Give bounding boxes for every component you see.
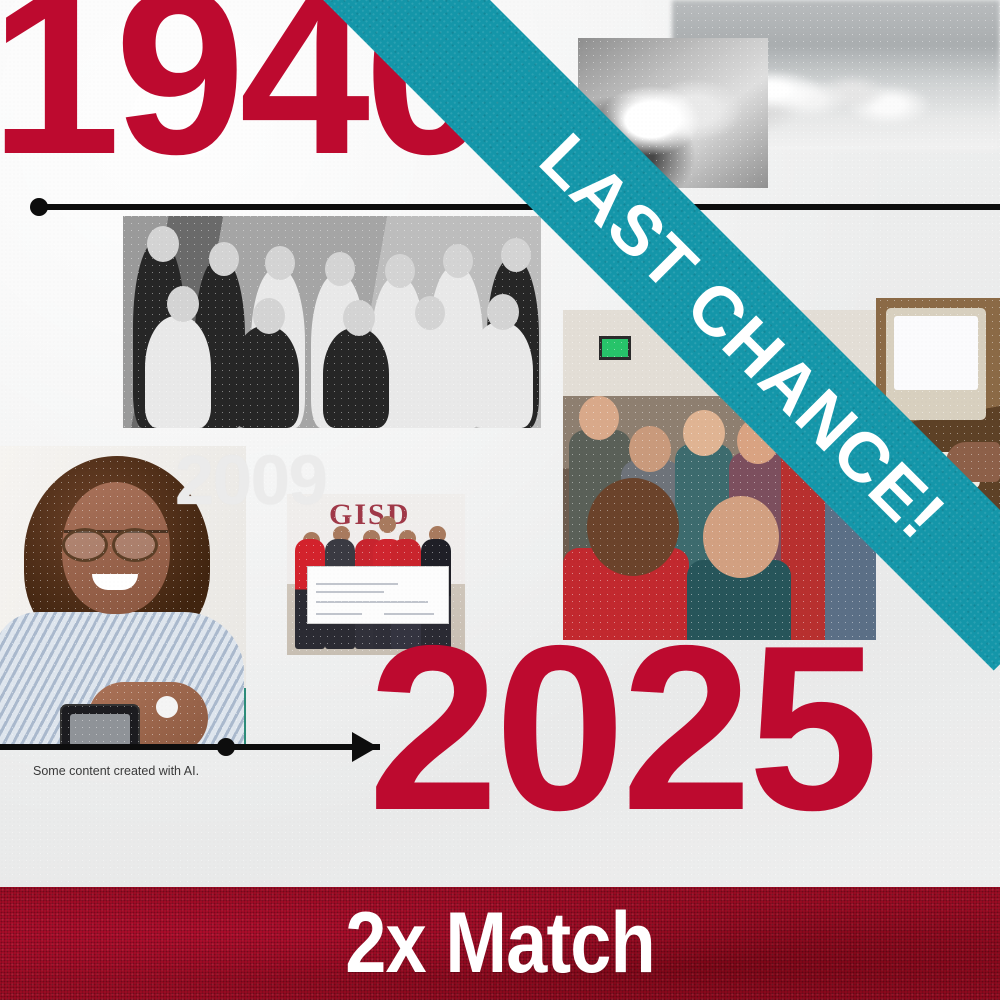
banquet-head [253, 298, 285, 334]
crt-monitor [886, 308, 986, 420]
banquet-figure [323, 328, 389, 428]
glucose-reader-device [60, 704, 140, 746]
glasses-lens-right [112, 528, 158, 562]
banquet-head [501, 238, 531, 272]
banquet-figure [145, 316, 211, 428]
banquet-head [385, 254, 415, 288]
banquet-head [443, 244, 473, 278]
glucose-sensor [156, 696, 178, 718]
banquet-figure [399, 326, 459, 428]
banquet-head [147, 226, 179, 262]
banquet-head [325, 252, 355, 286]
promo-graphic: GISD [0, 0, 1000, 1000]
timeline-line-bottom [0, 744, 380, 750]
banquet-figure [469, 322, 533, 428]
timeline-dot-1940 [30, 198, 48, 216]
banquet-head [343, 300, 375, 336]
timeline-line-top [38, 204, 1000, 210]
check-person-head [379, 516, 396, 533]
match-banner: 2x Match [0, 887, 1000, 1000]
banquet-figure [233, 326, 299, 428]
match-label: 2x Match [345, 894, 655, 993]
screen-icon [599, 336, 631, 360]
banquet-head [167, 286, 199, 322]
banquet-head [415, 296, 445, 330]
glasses-lens-left [62, 528, 108, 562]
banquet-head [209, 242, 239, 276]
timeline-dot-2009 [217, 738, 235, 756]
timeline-arrow-2025 [352, 732, 378, 762]
banquet-group-photo [123, 216, 541, 428]
banquet-head [265, 246, 295, 280]
ai-disclaimer: Some content created with AI. [33, 764, 199, 778]
banquet-head [487, 294, 519, 330]
year-label-2025: 2025 [368, 636, 875, 819]
year-label-2009: 2009 [175, 440, 327, 520]
